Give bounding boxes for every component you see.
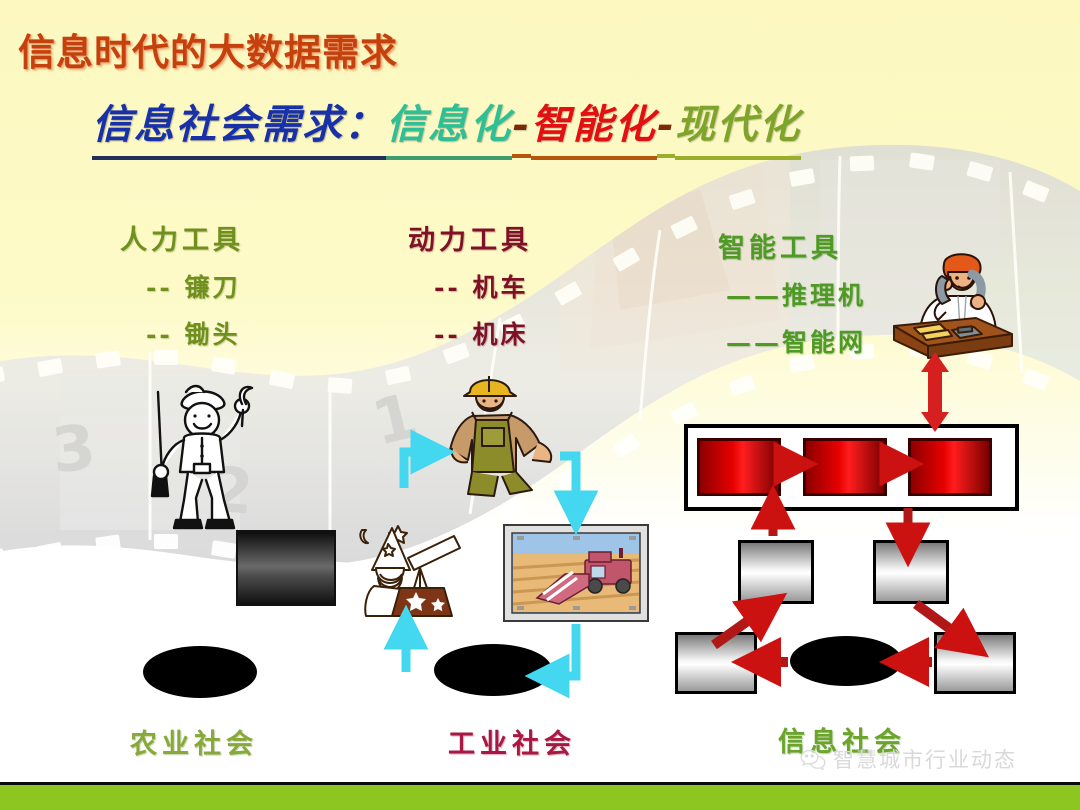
businessman-desk-illustration bbox=[888, 250, 1018, 370]
page-title: 信息时代的大数据需求 bbox=[18, 22, 398, 76]
tools-column-power: 动力工具 -- 机车 -- 机床 bbox=[408, 218, 532, 351]
page-subtitle: 信息社会需求：信息化-智能化-现代化 bbox=[92, 92, 801, 160]
filmstrip-frame-number: 3 bbox=[48, 410, 99, 487]
wechat-icon bbox=[800, 748, 826, 770]
watermark: 智慧城市行业动态 bbox=[800, 744, 1017, 774]
tools-column-intelligent: 智能工具 ——推理机 ——智能网 bbox=[718, 226, 866, 359]
tools-column-manual: 人力工具 -- 镰刀 -- 锄头 bbox=[120, 218, 244, 351]
tools-column-intelligent-item-1: ——智能网 bbox=[718, 323, 866, 359]
pipeline-red-box-2 bbox=[803, 438, 887, 496]
watermark-text: 智慧城市行业动态 bbox=[833, 744, 1017, 774]
filmstrip-frame-number: 1 bbox=[365, 379, 425, 460]
subtitle-separator-2: - bbox=[657, 101, 676, 158]
info-gray-box-upper-right bbox=[873, 540, 949, 604]
astronomer-illustration bbox=[358, 512, 468, 622]
info-gray-box-lower-left bbox=[675, 632, 757, 694]
era-label-agricultural: 农业社会 bbox=[130, 722, 258, 761]
subtitle-part-teal: 信息化 bbox=[386, 92, 512, 160]
tools-column-power-item-1: -- 机床 bbox=[408, 315, 532, 351]
subtitle-part-red: 智能化 bbox=[531, 92, 657, 160]
agri-base-oval bbox=[143, 646, 257, 698]
bottom-bar bbox=[0, 782, 1080, 810]
tools-column-manual-heading: 人力工具 bbox=[120, 218, 244, 257]
tools-column-power-item-0: -- 机车 bbox=[408, 268, 532, 304]
tools-column-manual-item-0: -- 镰刀 bbox=[120, 268, 244, 304]
worker-illustration bbox=[432, 368, 572, 500]
slide-canvas: 3 2 1 信息时代的大数据需求 信息社会需求：信息化-智能化-现代化 人力工具… bbox=[0, 0, 1080, 810]
subtitle-separator-1: - bbox=[512, 101, 531, 158]
subtitle-part-olive: 现代化 bbox=[675, 92, 801, 160]
industrial-base-oval bbox=[434, 644, 552, 696]
farmer-illustration bbox=[140, 380, 280, 530]
tools-column-intelligent-heading: 智能工具 bbox=[718, 226, 866, 265]
tools-column-intelligent-item-0: ——推理机 bbox=[718, 276, 866, 312]
info-base-oval bbox=[790, 636, 902, 686]
info-gray-box-lower-right bbox=[934, 632, 1016, 694]
agri-dark-panel bbox=[236, 530, 336, 606]
info-gray-box-upper-left bbox=[738, 540, 814, 604]
tools-column-manual-item-1: -- 锄头 bbox=[120, 315, 244, 351]
pipeline-red-box-1 bbox=[697, 438, 781, 496]
harvester-picture-frame bbox=[503, 524, 649, 622]
tools-column-power-heading: 动力工具 bbox=[408, 218, 532, 257]
pipeline-red-box-3 bbox=[908, 438, 992, 496]
subtitle-part-blue: 信息社会需求： bbox=[92, 92, 386, 160]
era-label-industrial: 工业社会 bbox=[448, 722, 576, 761]
